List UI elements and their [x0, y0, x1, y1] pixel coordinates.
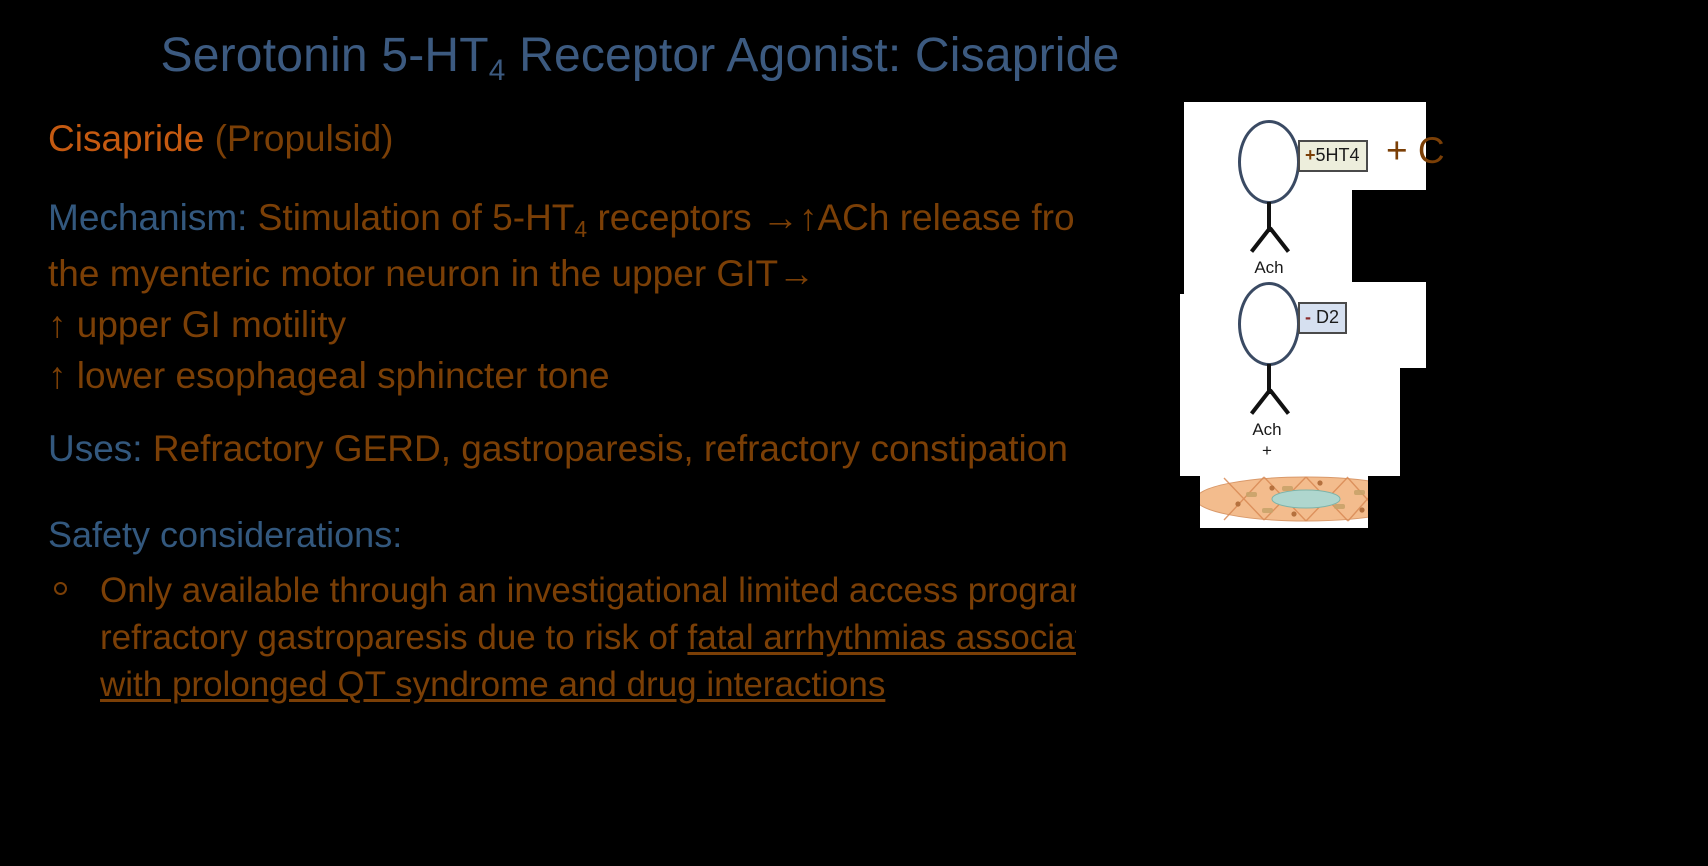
occluder-panel — [1426, 280, 1708, 370]
occluder-panel — [1076, 300, 1152, 322]
uses-label: Uses: — [48, 428, 143, 469]
axon-terminal-top-icon — [1247, 228, 1291, 254]
drug-name-line: Cisapride (Propulsid) — [48, 120, 1178, 157]
bullet-circle-icon — [54, 582, 67, 595]
mechanism-line-1: Mechanism: Stimulation of 5-HT4 receptor… — [48, 199, 1178, 241]
mechanism-line-2: the myenteric motor neuron in the upper … — [48, 255, 1178, 292]
page-title: Serotonin 5-HT4 Receptor Agonist: Cisapr… — [0, 28, 1280, 88]
occluder-panel — [1400, 368, 1708, 528]
mechanism-text-b: receptors →↑ACh release from — [587, 197, 1105, 238]
neuron-cell-body-top-icon — [1238, 120, 1300, 204]
drug-generic-name: Cisapride — [48, 118, 204, 159]
drug-brand-name: (Propulsid) — [215, 118, 394, 159]
title-subscript: 4 — [489, 54, 506, 87]
mechanism-effect-2: ↑ lower esophageal sphincter tone — [48, 357, 1178, 394]
uses-line: Uses: Refractory GERD, gastroparesis, re… — [48, 430, 1178, 467]
axon-terminal-bottom-icon — [1247, 390, 1291, 416]
receptor-box-d2: - D2 — [1298, 302, 1347, 334]
occluder-panel — [1076, 528, 1708, 866]
neurotransmitter-label-top: Ach — [1229, 258, 1309, 278]
receptor-label-5ht4: 5HT4 — [1316, 145, 1360, 165]
list-item: Only available through an investigationa… — [48, 567, 1178, 709]
occluder-panel — [1076, 336, 1152, 476]
mechanism-label: Mechanism: — [48, 197, 247, 238]
clipped-overflow-text: + C — [1386, 130, 1445, 172]
mechanism-text-a: Stimulation of 5-HT — [258, 197, 575, 238]
uses-text: Refractory GERD, gastroparesis, refracto… — [153, 428, 1068, 469]
mechanism-effect-1: ↑ upper GI motility — [48, 306, 1178, 343]
safety-bullet-list: Only available through an investigationa… — [48, 567, 1178, 709]
receptor-box-5ht4: +5HT4 — [1298, 140, 1368, 172]
title-text-part1: Serotonin 5-HT — [161, 29, 489, 82]
mechanism-subscript: 4 — [574, 216, 587, 242]
neurotransmitter-label-bottom: Ach — [1227, 420, 1307, 440]
receptor-label-d2: D2 — [1316, 307, 1339, 327]
title-text-part2: Receptor Agonist: Cisapride — [506, 29, 1120, 82]
neuron-cell-body-bottom-icon — [1238, 282, 1300, 366]
occluder-panel — [1368, 476, 1428, 536]
neurotransmitter-sign-bottom: + — [1227, 441, 1307, 461]
receptor-sign-negative: - — [1305, 307, 1311, 327]
slide-canvas: Serotonin 5-HT4 Receptor Agonist: Cisapr… — [0, 0, 1708, 866]
safety-heading: Safety considerations: — [48, 517, 1178, 553]
occluder-panel — [1352, 190, 1708, 282]
occluder-panel — [1076, 94, 1184, 294]
slide-body: Cisapride (Propulsid) Mechanism: Stimula… — [48, 120, 1178, 709]
receptor-sign-positive: + — [1305, 145, 1316, 165]
mechanism-block: Mechanism: Stimulation of 5-HT4 receptor… — [48, 199, 1178, 394]
occluder-panel — [1152, 476, 1200, 536]
